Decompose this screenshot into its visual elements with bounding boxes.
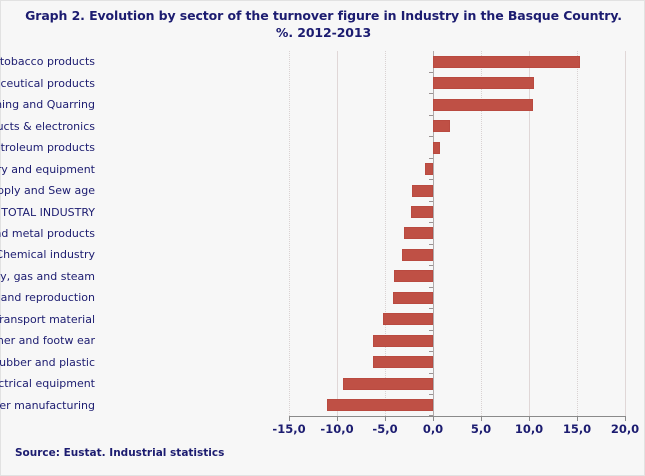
bar[interactable]	[383, 313, 433, 325]
chart-row: 13 - Machinery and equipment	[289, 158, 625, 179]
bar[interactable]	[433, 56, 580, 68]
bar[interactable]	[433, 120, 450, 132]
x-tick-label: 0,0	[423, 422, 443, 436]
category-label: 06 - Manufacture of coke and refined pet…	[0, 141, 95, 154]
gridline	[625, 51, 626, 416]
chart-row: 14 - Transport material	[289, 309, 625, 330]
x-tick-mark	[529, 416, 530, 421]
bar[interactable]	[327, 399, 433, 411]
bar[interactable]	[433, 142, 440, 154]
chart-row: 07 - Chemical industry	[289, 244, 625, 265]
category-label: 14 - Transport material	[0, 313, 95, 326]
chart-row: TOTAL INDUSTRY	[289, 201, 625, 222]
x-tick-mark	[433, 416, 434, 421]
chart-title-line-1: Graph 2. Evolution by sector of the turn…	[9, 7, 638, 24]
chart-row: 17 - Water supply and Sew age	[289, 180, 625, 201]
x-tick-mark	[385, 416, 386, 421]
bar[interactable]	[433, 99, 533, 111]
bar[interactable]	[343, 378, 433, 390]
x-tick-label: -10,0	[320, 422, 353, 436]
x-tick-label: 10,0	[515, 422, 543, 436]
category-label: 11 - Computer products & electronics	[0, 120, 95, 133]
category-label: 08 - Pharmaceutical products	[0, 77, 95, 90]
x-axis-line	[289, 416, 625, 417]
x-tick-mark	[625, 416, 626, 421]
bar[interactable]	[404, 227, 433, 239]
category-label: 03 - Food industry, beverages, tobacco p…	[0, 55, 95, 68]
x-tick-label: 15,0	[563, 422, 591, 436]
chart-row: 09 - Rubber and plastic	[289, 352, 625, 373]
chart-row: 11 - Computer products & electronics	[289, 115, 625, 136]
category-label: 17 - Water supply and Sew age	[0, 184, 95, 197]
chart-title: Graph 2. Evolution by sector of the turn…	[9, 7, 638, 41]
category-label: 04 - Textiles, clothing, leather and foo…	[0, 334, 95, 347]
category-label: 02 -Mining and Quarring	[0, 98, 95, 111]
category-label: 16 - Electricity, gas and steam	[0, 270, 95, 283]
chart-row: 03 - Food industry, beverages, tobacco p…	[289, 51, 625, 72]
chart-row: 06 - Manufacture of coke and refined pet…	[289, 137, 625, 158]
x-tick-mark	[289, 416, 290, 421]
category-label: 15 - Furniture and other manufacturing	[0, 399, 95, 412]
chart-row: 05 - Timber, paperand printing and repro…	[289, 287, 625, 308]
bar[interactable]	[412, 185, 433, 197]
category-label: 10 - Metallurgy and metal products	[0, 227, 95, 240]
category-label: 13 - Machinery and equipment	[0, 163, 95, 176]
bar[interactable]	[393, 292, 433, 304]
bar[interactable]	[433, 77, 534, 89]
category-label: 12 - Manufacture of electrical equipment	[0, 377, 95, 390]
chart-row: 12 - Manufacture of electrical equipment	[289, 373, 625, 394]
x-tick-label: -5,0	[372, 422, 397, 436]
bar[interactable]	[411, 206, 433, 218]
bar[interactable]	[394, 270, 433, 282]
bar[interactable]	[373, 335, 433, 347]
bar[interactable]	[402, 249, 433, 261]
x-tick-mark	[481, 416, 482, 421]
chart-container: Graph 2. Evolution by sector of the turn…	[0, 0, 645, 476]
chart-row: 16 - Electricity, gas and steam	[289, 266, 625, 287]
chart-row: 15 - Furniture and other manufacturing	[289, 395, 625, 416]
bar[interactable]	[425, 163, 433, 175]
x-tick-label: -15,0	[272, 422, 305, 436]
source-note: Source: Eustat. Industrial statistics	[15, 447, 224, 459]
x-tick-label: 5,0	[471, 422, 491, 436]
plot-area: 03 - Food industry, beverages, tobacco p…	[289, 51, 625, 416]
chart-row: 08 - Pharmaceutical products	[289, 72, 625, 93]
bar[interactable]	[373, 356, 433, 368]
category-label: 07 - Chemical industry	[0, 248, 95, 261]
category-label: 09 - Rubber and plastic	[0, 356, 95, 369]
category-label: 05 - Timber, paperand printing and repro…	[0, 291, 95, 304]
x-tick-label: 20,0	[611, 422, 639, 436]
chart-row: 04 - Textiles, clothing, leather and foo…	[289, 330, 625, 351]
chart-row: 10 - Metallurgy and metal products	[289, 223, 625, 244]
category-label: TOTAL INDUSTRY	[1, 206, 95, 219]
chart-row: 02 -Mining and Quarring	[289, 94, 625, 115]
x-tick-mark	[337, 416, 338, 421]
chart-title-line-2: %. 2012-2013	[9, 24, 638, 41]
x-tick-mark	[577, 416, 578, 421]
